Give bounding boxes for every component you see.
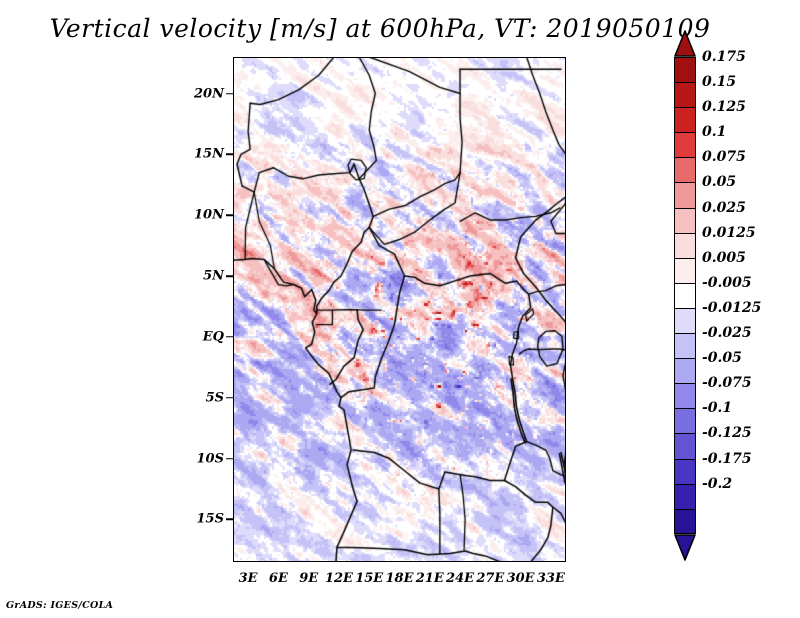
longitude-tick-label: 3E xyxy=(239,571,258,586)
colorbar-tick-label: -0.1 xyxy=(702,400,732,416)
colorbar-tick-label: -0.005 xyxy=(702,275,752,291)
colorbar-tick-label: 0.125 xyxy=(702,99,746,115)
colorbar-tick-label: -0.0125 xyxy=(702,300,761,316)
colorbar-band: 0.025 xyxy=(674,208,696,233)
colorbar-band: -0.025 xyxy=(674,333,696,358)
latitude-tick-label: 10N xyxy=(194,208,224,223)
colorbar-tick-label: 0.0125 xyxy=(702,225,756,241)
latitude-tick-mark xyxy=(226,93,233,95)
colorbar-band: -0.1 xyxy=(674,408,696,433)
longitude-tick-label: 18E xyxy=(386,571,414,586)
page-title: Vertical velocity [m/s] at 600hPa, VT: 2… xyxy=(0,14,760,43)
longitude-tick-label: 12E xyxy=(325,571,353,586)
colorbar-band: 0.1 xyxy=(674,132,696,157)
colorbar-tick-label: -0.025 xyxy=(702,325,752,341)
latitude-tick-mark xyxy=(226,214,233,216)
colorbar-tick-label: -0.2 xyxy=(702,476,732,492)
longitude-tick-label: 33E xyxy=(537,571,565,586)
colorbar-under-arrow xyxy=(674,534,696,561)
latitude-tick-label: 15N xyxy=(194,147,224,162)
latitude-tick-label: EQ xyxy=(203,329,224,344)
colorbar-tick-label: -0.175 xyxy=(702,451,752,467)
colorbar-tick-label: -0.125 xyxy=(702,425,752,441)
latitude-tick-label: 15S xyxy=(197,512,224,527)
longitude-tick-label: 30E xyxy=(507,571,535,586)
latitude-tick-label: 5N xyxy=(203,269,224,284)
vertical-velocity-heatmap xyxy=(233,57,566,562)
colorbar-band: -0.125 xyxy=(674,433,696,458)
longitude-tick-label: 27E xyxy=(476,571,504,586)
latitude-tick-mark xyxy=(226,519,233,521)
colorbar-tick-label: 0.025 xyxy=(702,200,746,216)
latitude-tick-mark xyxy=(226,336,233,338)
colorbar-tick-label: 0.15 xyxy=(702,74,736,90)
colorbar-band: 0.075 xyxy=(674,157,696,182)
colorbar-tick-label: -0.05 xyxy=(702,350,742,366)
colorbar-band: -0.05 xyxy=(674,358,696,383)
colorbar-band: 0.125 xyxy=(674,107,696,132)
colorbar-band: 0.05 xyxy=(674,182,696,207)
longitude-tick-label: 21E xyxy=(416,571,444,586)
grads-credit: GrADS: IGES/COLA xyxy=(6,600,113,611)
colorbar-over-arrow xyxy=(674,30,696,57)
latitude-tick-mark xyxy=(226,458,233,460)
latitude-tick-mark xyxy=(226,275,233,277)
latitude-tick-label: 10S xyxy=(197,451,224,466)
latitude-tick-mark xyxy=(226,154,233,156)
colorbar-band: 0.0125 xyxy=(674,233,696,258)
colorbar-band: -0.175 xyxy=(674,459,696,484)
colorbar-tick-label: 0.05 xyxy=(702,174,736,190)
colorbar-band: 0.005 xyxy=(674,258,696,283)
colorbar-tick-label: 0.175 xyxy=(702,49,746,65)
colorbar-band: 0.175 xyxy=(674,57,696,82)
colorbar-tick-label: 0.005 xyxy=(702,250,746,266)
colorbar-band: -0.0125 xyxy=(674,308,696,333)
colorbar-tick-label: 0.075 xyxy=(702,149,746,165)
colorbar-band: -0.075 xyxy=(674,383,696,408)
longitude-tick-label: 9E xyxy=(299,571,318,586)
colorbar: 0.1750.150.1250.10.0750.050.0250.01250.0… xyxy=(674,57,696,534)
colorbar-band: -0.2 xyxy=(674,484,696,509)
colorbar-band xyxy=(674,509,696,534)
longitude-tick-label: 6E xyxy=(269,571,288,586)
colorbar-band: 0.15 xyxy=(674,82,696,107)
colorbar-band: -0.005 xyxy=(674,283,696,308)
latitude-tick-mark xyxy=(226,397,233,399)
longitude-tick-label: 24E xyxy=(446,571,474,586)
longitude-tick-label: 15E xyxy=(355,571,383,586)
latitude-tick-label: 20N xyxy=(194,86,224,101)
colorbar-tick-label: -0.075 xyxy=(702,375,752,391)
map-plot-area: 20N15N10N5NEQ5S10S15S 3E6E9E12E15E18E21E… xyxy=(233,57,566,562)
latitude-tick-label: 5S xyxy=(206,390,224,405)
colorbar-tick-label: 0.1 xyxy=(702,124,726,140)
